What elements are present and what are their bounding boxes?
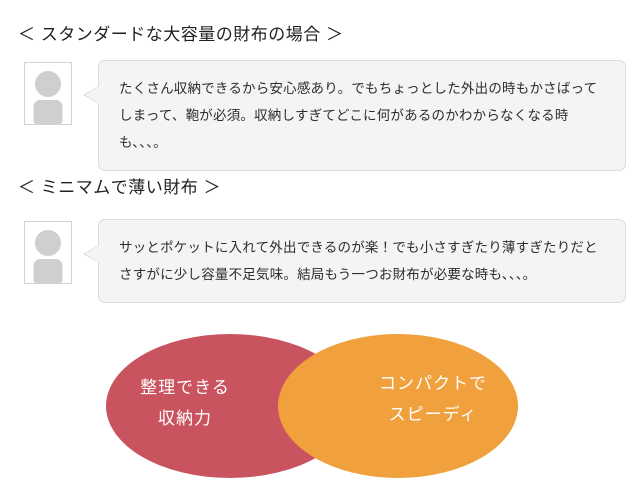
avatar xyxy=(24,62,72,125)
person-avatar-icon-head xyxy=(35,71,61,97)
speech-bubble-line: サッとポケットに入れて外出できるのが楽！でも小さすぎたり薄すぎたりだと xyxy=(119,234,607,261)
speech-bubble-line: しまって、鞄が必須。収納しすぎてどこに何があるのかわからなくなる時も、、、。 xyxy=(119,102,607,156)
venn-diagram xyxy=(100,332,530,484)
avatar xyxy=(24,221,72,284)
speech-bubble-minimal-wallet: サッとポケットに入れて外出できるのが楽！でも小さすぎたり薄すぎたりだと さすがに… xyxy=(98,219,626,303)
speech-bubble-line: たくさん収納できるから安心感あり。でもちょっとした外出の時もかさばって xyxy=(119,75,607,102)
speech-bubble-tail-fill-icon xyxy=(85,245,100,263)
venn-diagram-shapes xyxy=(100,332,530,484)
person-avatar-icon-head xyxy=(35,230,61,256)
testimonial-block-standard-wallet: たくさん収納できるから安心感あり。でもちょっとした外出の時もかさばって しまって… xyxy=(0,60,640,150)
speech-bubble-standard-wallet: たくさん収納できるから安心感あり。でもちょっとした外出の時もかさばって しまって… xyxy=(98,60,626,171)
person-avatar-icon-body xyxy=(34,100,63,124)
venn-ellipse-right xyxy=(278,334,518,478)
person-avatar-icon-body xyxy=(34,259,63,283)
testimonial-block-minimal-wallet: サッとポケットに入れて外出できるのが楽！でも小さすぎたり薄すぎたりだと さすがに… xyxy=(0,219,640,309)
section-heading-standard-wallet: ＜ スタンダードな大容量の財布の場合 ＞ xyxy=(18,25,343,45)
section-heading-minimal-wallet: ＜ ミニマムで薄い財布 ＞ xyxy=(18,178,221,198)
speech-bubble-tail-fill-icon xyxy=(85,86,100,104)
speech-bubble-line: さすがに少し容量不足気味。結局もう一つお財布が必要な時も、、、。 xyxy=(119,261,607,288)
